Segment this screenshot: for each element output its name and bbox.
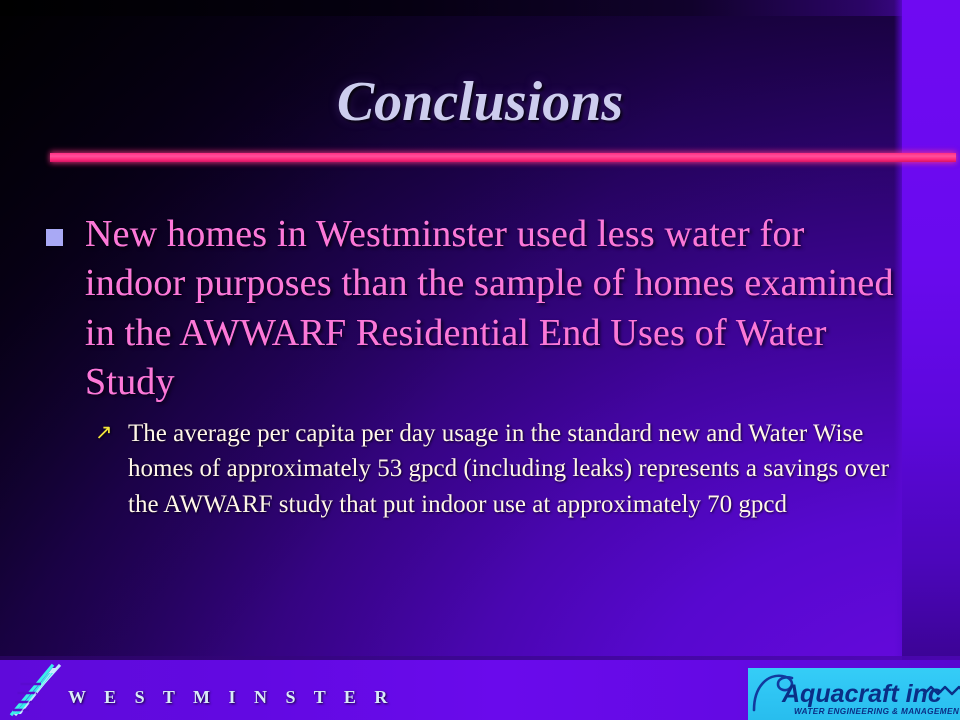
- aquacraft-name-text: Aquacraft inc: [781, 680, 942, 708]
- westminster-triangle-icon: [8, 662, 66, 718]
- presentation-slide: Conclusions New homes in Westminster use…: [0, 0, 960, 720]
- slide-title: Conclusions: [0, 74, 960, 130]
- slide-top-edge-strip: [0, 0, 960, 16]
- aquacraft-tagline-text: WATER ENGINEERING & MANAGEMENT: [794, 707, 960, 716]
- slide-body: New homes in Westminster used less water…: [40, 210, 900, 522]
- footer-band: W E S T M I N S T E R Aquacraft inc WATE…: [0, 660, 960, 720]
- title-divider: [50, 148, 956, 166]
- bullet-level2-text: The average per capita per day usage in …: [128, 416, 898, 523]
- square-bullet-icon: [46, 229, 63, 246]
- bullet-level2: ↗ The average per capita per day usage i…: [40, 416, 900, 523]
- aquacraft-logo: Aquacraft inc WATER ENGINEERING & MANAGE…: [748, 668, 960, 720]
- arrow-bullet-icon: ↗: [95, 421, 117, 443]
- aquacraft-wave-icon: Aquacraft inc WATER ENGINEERING & MANAGE…: [748, 668, 960, 720]
- bullet-level1-text: New homes in Westminster used less water…: [85, 210, 900, 408]
- westminster-wordmark: W E S T M I N S T E R: [68, 687, 394, 708]
- bullet-level1: New homes in Westminster used less water…: [40, 210, 900, 408]
- title-divider-bar: [50, 153, 956, 162]
